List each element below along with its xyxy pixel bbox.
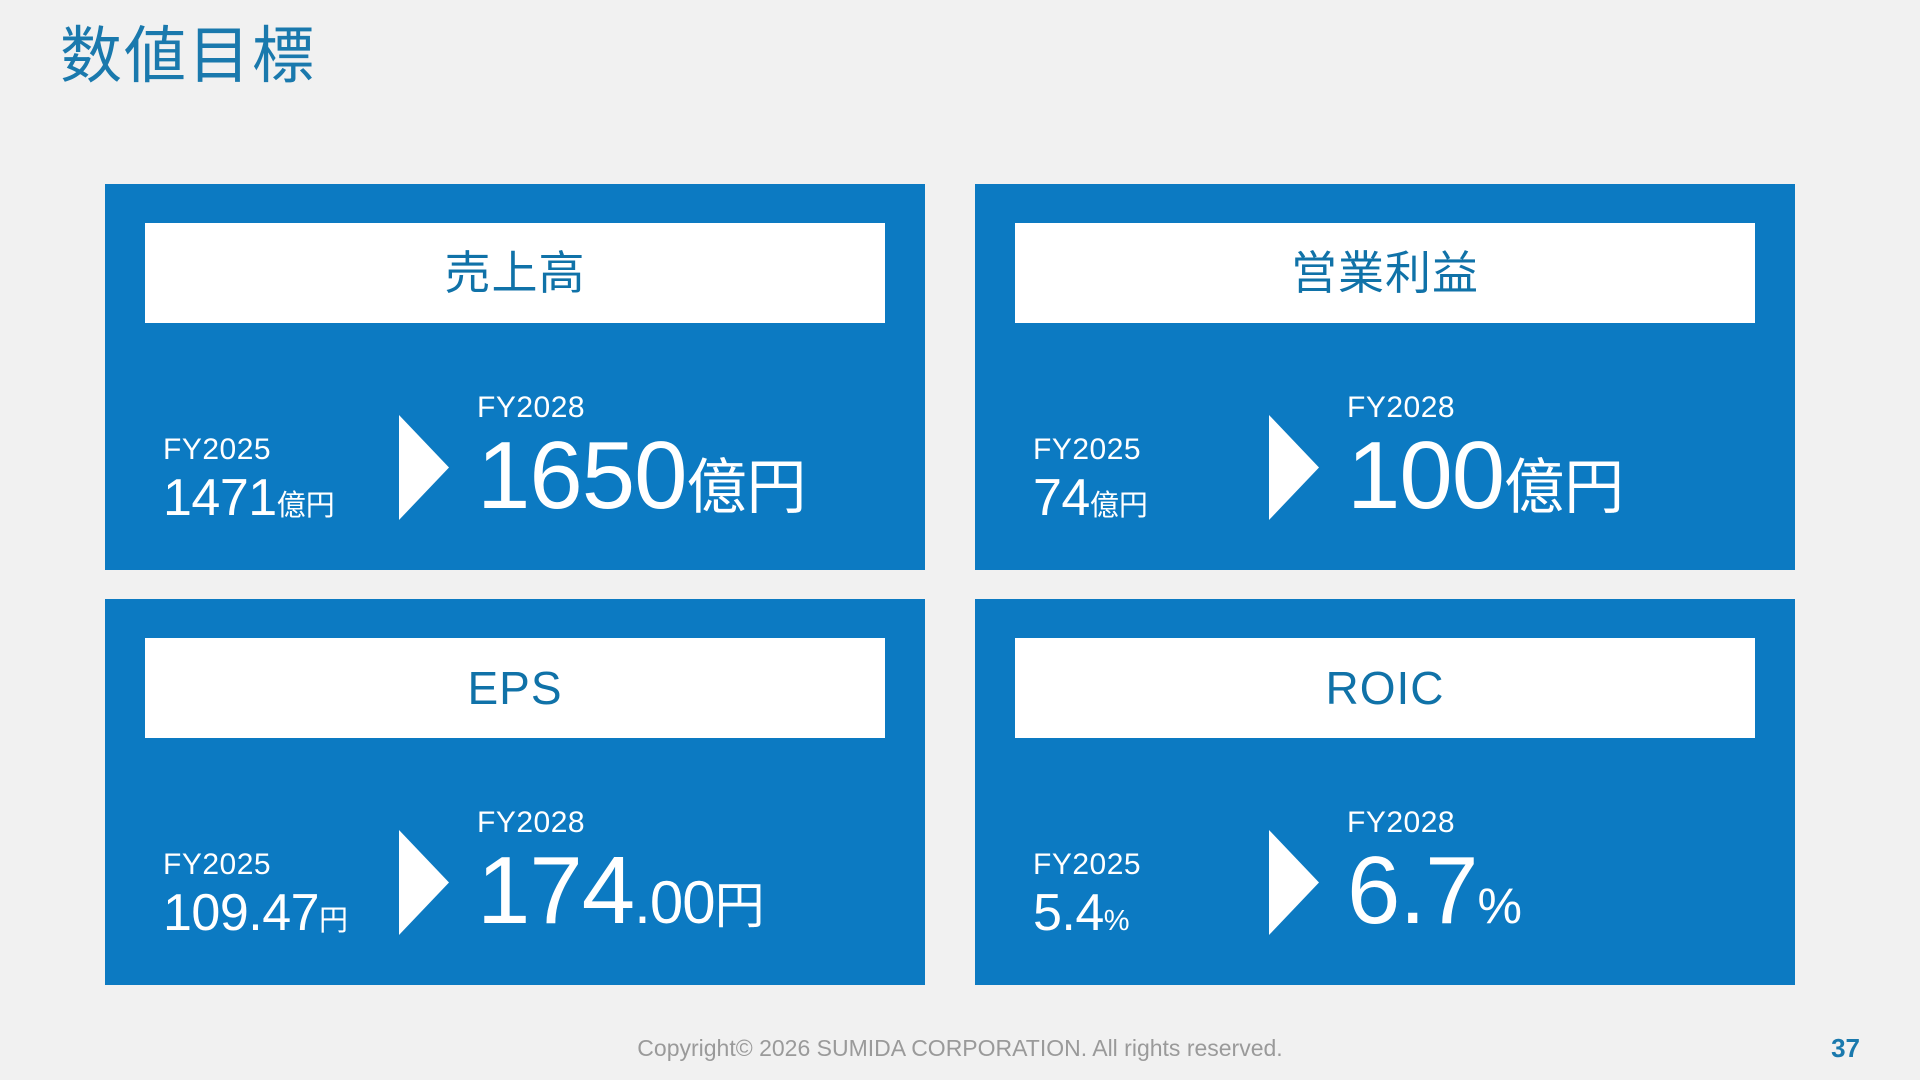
metric-from-number: 74 [1033, 472, 1090, 524]
card-header-label: EPS [467, 665, 562, 711]
metric-to-unit: 億円 [1504, 458, 1624, 518]
fy-label-from: FY2025 [1033, 850, 1141, 880]
metric-card-grid: 売上高 FY2025 1471億円 FY2028 1650億円 [105, 184, 1795, 985]
metric-to-decimal: .00 [634, 873, 714, 933]
metric-to-block: FY2028 1650億円 [477, 393, 807, 524]
card-header-label: 売上高 [445, 250, 586, 296]
card-body: FY2025 74億円 FY2028 100億円 [975, 323, 1795, 570]
triangle-right-icon [399, 415, 449, 520]
metric-from-block: FY2025 109.47円 [163, 850, 348, 939]
metric-to-number: 174 [477, 843, 634, 939]
metric-from-value: 5.4% [1033, 887, 1130, 939]
slide-root: 数値目標 売上高 FY2025 1471億円 FY2028 [0, 0, 1920, 1080]
metric-from-value: 109.47円 [163, 887, 348, 939]
card-header-label: ROIC [1326, 665, 1445, 711]
metric-from-value: 1471億円 [163, 472, 335, 524]
triangle-right-icon [399, 830, 449, 935]
metric-from-block: FY2025 1471億円 [163, 435, 335, 524]
card-body: FY2025 5.4% FY2028 6.7% [975, 738, 1795, 985]
metric-card-roic: ROIC FY2025 5.4% FY2028 6.7% [975, 599, 1795, 985]
metric-to-block: FY2028 6.7% [1347, 808, 1522, 939]
card-header-box: 売上高 [145, 223, 885, 323]
fy-label-to: FY2028 [1347, 393, 1455, 423]
metric-to-block: FY2028 174.00円 [477, 808, 765, 939]
metric-to-unit: % [1477, 881, 1521, 931]
fy-label-to: FY2028 [477, 808, 585, 838]
metric-to-value: 1650億円 [477, 428, 807, 524]
metric-to-value: 174.00円 [477, 843, 765, 939]
metric-from-unit: % [1104, 907, 1130, 936]
metric-from-unit: 億円 [1090, 492, 1148, 521]
metric-from-unit: 円 [319, 907, 348, 936]
metric-from-unit: 億円 [277, 492, 335, 521]
metric-to-number: 100 [1347, 428, 1504, 524]
metric-from-number: 1471 [163, 472, 277, 524]
metric-to-value: 100億円 [1347, 428, 1624, 524]
footer-copyright: Copyright© 2026 SUMIDA CORPORATION. All … [0, 1035, 1920, 1062]
metric-card-eps: EPS FY2025 109.47円 FY2028 174.00円 [105, 599, 925, 985]
triangle-right-icon [1269, 415, 1319, 520]
card-header-box: 営業利益 [1015, 223, 1755, 323]
fy-label-to: FY2028 [1347, 808, 1455, 838]
page-number: 37 [1831, 1033, 1860, 1064]
metric-from-number: 109.47 [163, 887, 319, 939]
metric-to-number: 1650 [477, 428, 687, 524]
card-header-label: 営業利益 [1291, 250, 1479, 296]
page-title: 数値目標 [60, 20, 316, 94]
metric-from-number: 5.4 [1033, 887, 1104, 939]
metric-from-block: FY2025 74億円 [1033, 435, 1148, 524]
metric-to-block: FY2028 100億円 [1347, 393, 1624, 524]
fy-label-from: FY2025 [163, 850, 271, 880]
triangle-right-icon [1269, 830, 1319, 935]
metric-to-unit: 億円 [687, 458, 807, 518]
fy-label-from: FY2025 [163, 435, 271, 465]
metric-from-value: 74億円 [1033, 472, 1148, 524]
card-body: FY2025 1471億円 FY2028 1650億円 [105, 323, 925, 570]
fy-label-from: FY2025 [1033, 435, 1141, 465]
card-body: FY2025 109.47円 FY2028 174.00円 [105, 738, 925, 985]
metric-from-block: FY2025 5.4% [1033, 850, 1141, 939]
metric-to-unit: 円 [715, 881, 765, 931]
metric-card-net-sales: 売上高 FY2025 1471億円 FY2028 1650億円 [105, 184, 925, 570]
metric-to-number: 6.7 [1347, 843, 1477, 939]
metric-to-value: 6.7% [1347, 843, 1522, 939]
fy-label-to: FY2028 [477, 393, 585, 423]
card-header-box: ROIC [1015, 638, 1755, 738]
metric-card-operating-income: 営業利益 FY2025 74億円 FY2028 100億円 [975, 184, 1795, 570]
card-header-box: EPS [145, 638, 885, 738]
